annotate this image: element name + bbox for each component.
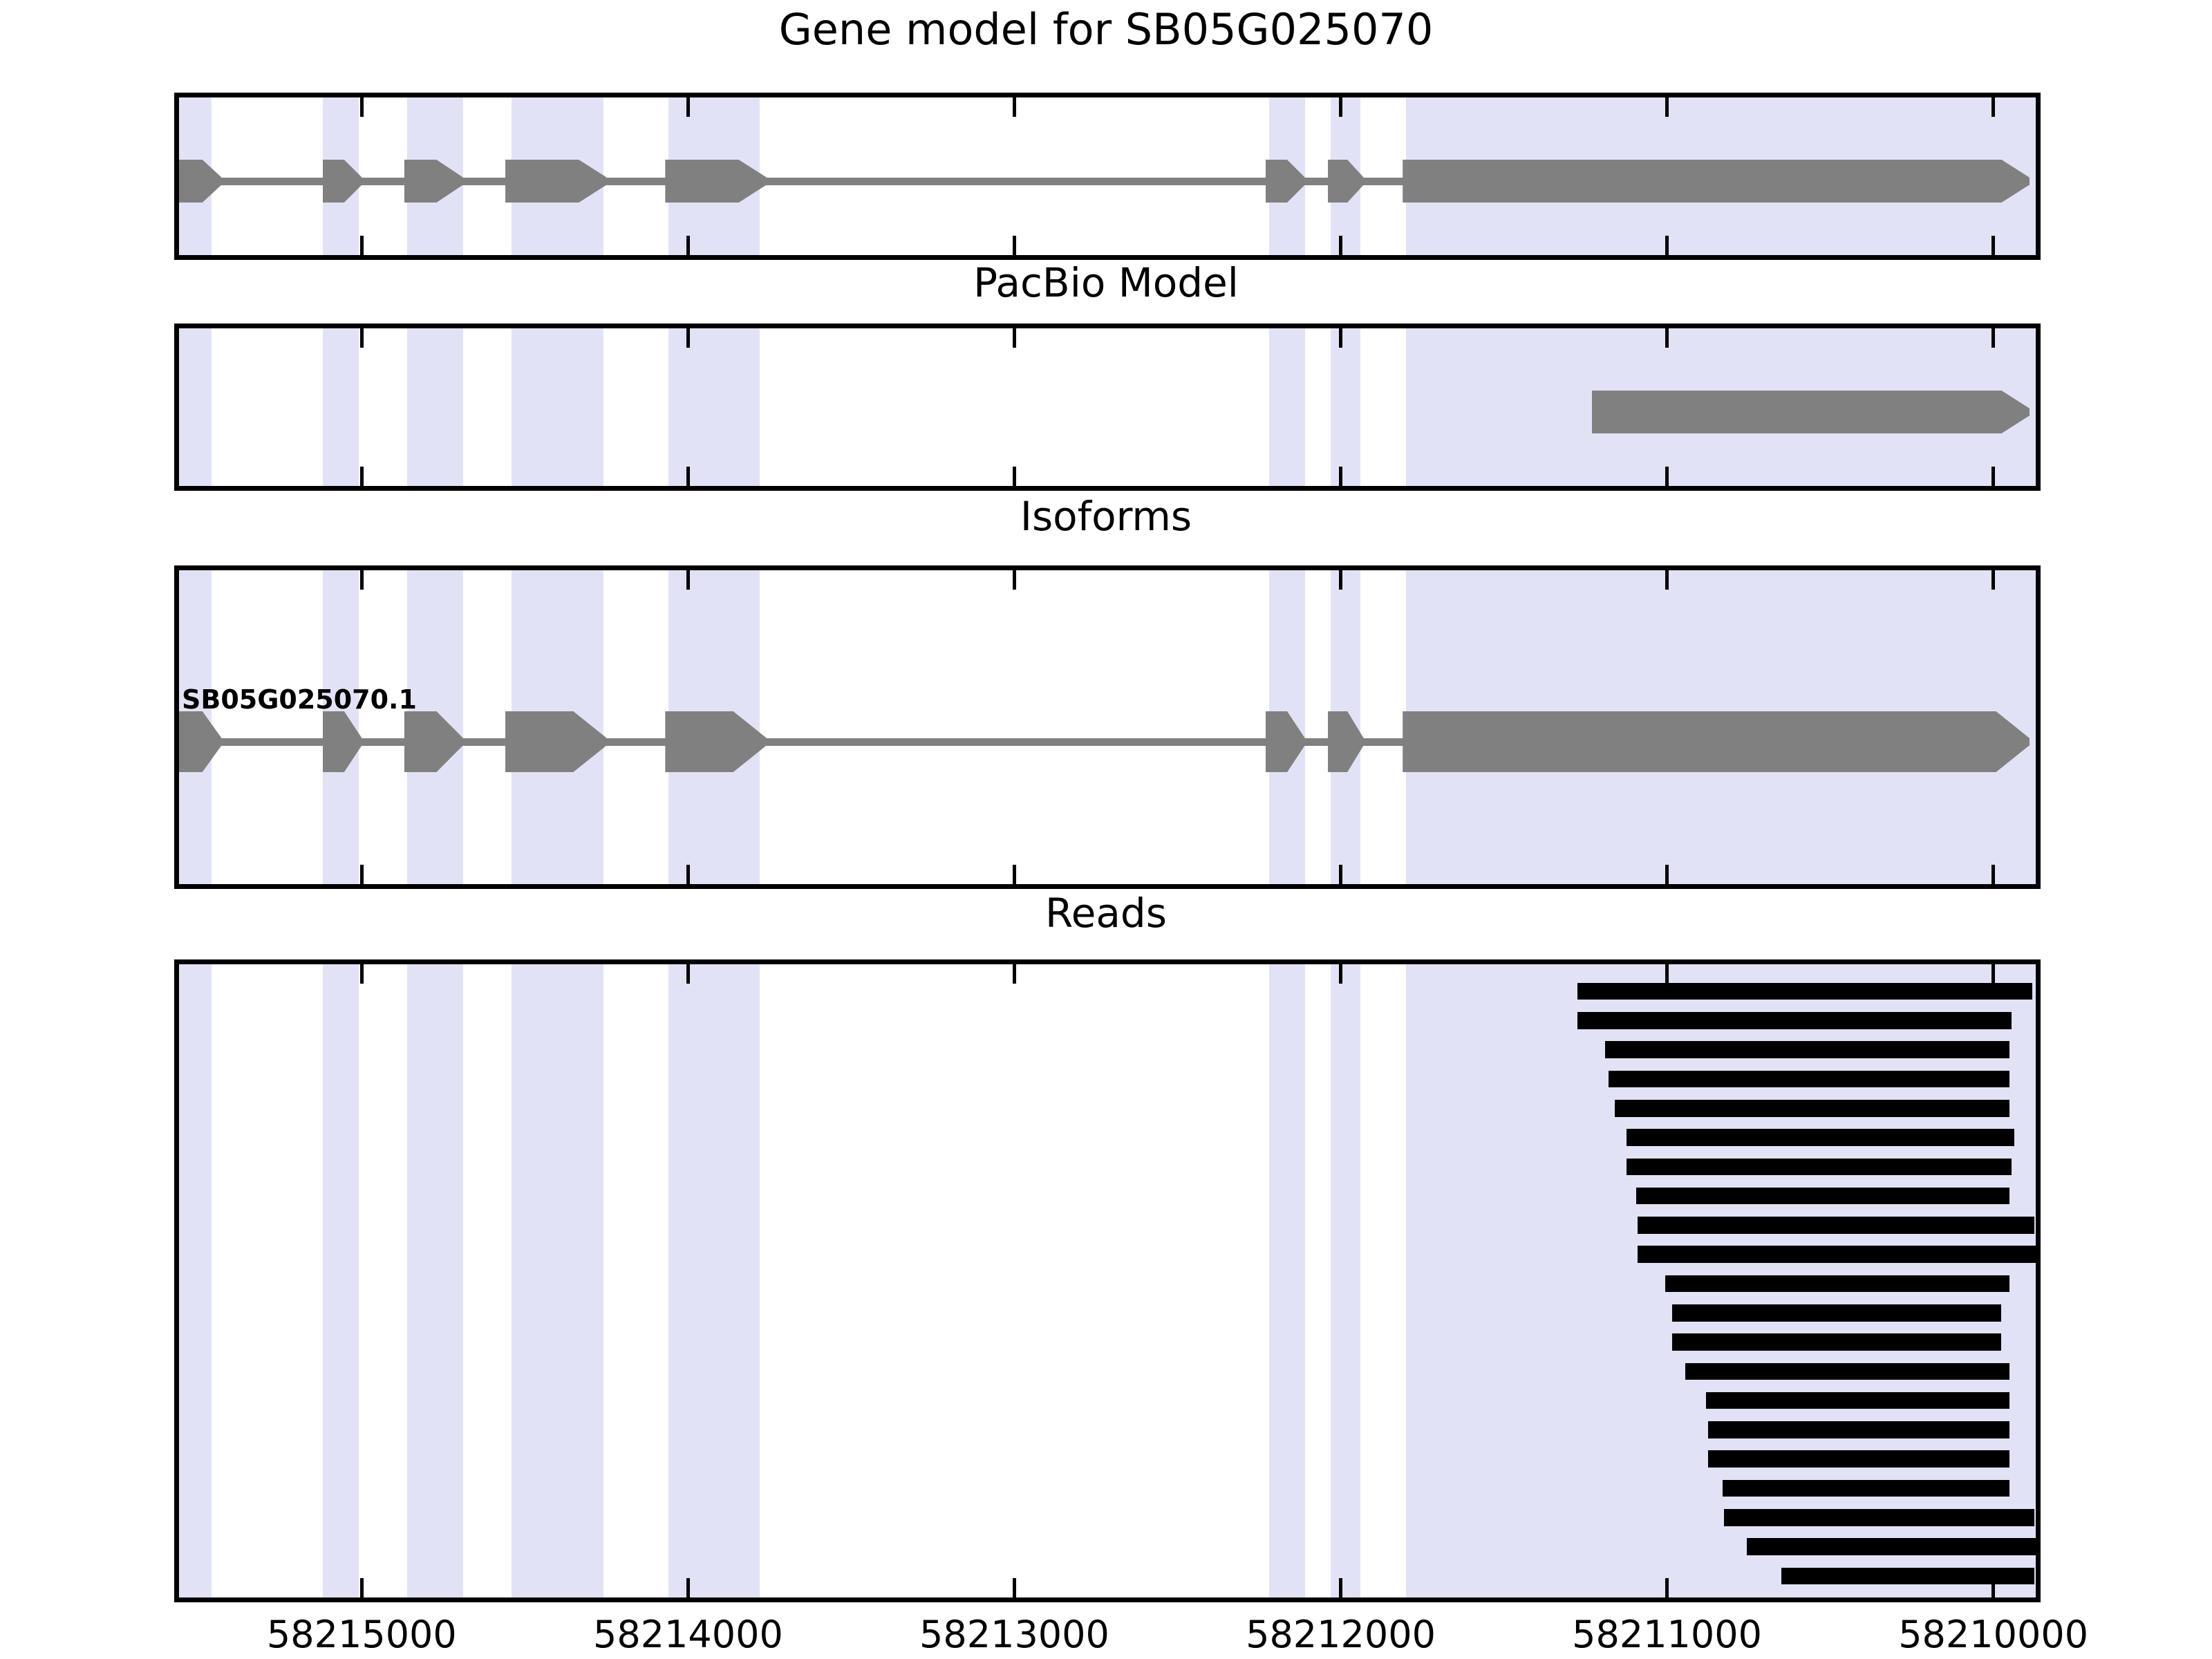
exon-shape [665,711,766,772]
x-axis-tick [360,865,364,884]
x-axis-tick [1013,236,1016,255]
x-axis-tick [686,97,690,117]
x-axis-tick [360,328,364,348]
exon-highlight-band [512,964,603,1597]
x-axis-tick [1339,236,1342,255]
read-bar[interactable] [1627,1129,2015,1146]
exon-shape [1266,711,1305,772]
panel-title-isoforms: Isoforms [0,496,2212,536]
read-bar[interactable] [1685,1363,2010,1380]
exon-highlight-band [668,328,760,486]
read-bar[interactable] [1724,1509,2034,1526]
exon-shape [505,711,606,772]
x-axis-tick [1339,328,1342,348]
exon-shape [323,711,362,772]
read-bar[interactable] [1672,1333,2002,1351]
read-bar[interactable] [1577,1012,2012,1029]
isoform-exon[interactable] [505,711,606,772]
x-axis-tick [1339,1578,1342,1597]
isoform-label: SB05G025070.1 [182,686,417,713]
read-bar[interactable] [1781,1568,2034,1585]
gene-model-exon[interactable] [1266,160,1305,203]
gene-model-exon[interactable] [665,160,766,203]
exon-shape [1328,711,1364,772]
x-axis-tick [1991,236,1995,255]
read-bar[interactable] [1577,983,2033,1000]
exon-highlight-band [1331,328,1360,486]
isoform-exon[interactable] [179,711,221,772]
read-bar[interactable] [1723,1480,2009,1497]
gene-model-exon[interactable] [1328,160,1364,203]
x-axis-tick [1339,865,1342,884]
x-axis-tick-label: 58210000 [1898,1616,2088,1653]
x-axis-tick [1665,236,1669,255]
pacbio-model-axes[interactable] [174,324,2041,491]
x-axis-tick [1339,570,1342,590]
read-bar[interactable] [1605,1041,2009,1058]
x-axis-tick [1991,467,1995,486]
exon-shape [505,160,606,203]
gene-model-exon[interactable] [505,160,606,203]
gene-model-axes[interactable] [174,93,2041,260]
x-axis-tick [1013,467,1016,486]
x-axis-tick [360,570,364,590]
x-axis-tick [360,467,364,486]
x-axis-tick [686,236,690,255]
x-axis-tick-label: 58212000 [1246,1616,1436,1653]
x-axis-tick [1991,328,1995,348]
gene-model-exon[interactable] [323,160,362,203]
exon-highlight-band [407,964,462,1597]
x-axis-tick [686,570,690,590]
x-axis-tick [1665,467,1669,486]
x-axis-tick [1991,570,1995,590]
exon-shape [1592,391,2030,433]
gene-model-exon[interactable] [1403,160,2029,203]
x-axis-tick [1991,964,1995,984]
read-bar[interactable] [1615,1100,2009,1117]
x-axis-tick [1665,865,1669,884]
exon-shape [404,711,463,772]
isoform-exon[interactable] [404,711,463,772]
x-axis-tick [360,1578,364,1597]
exon-shape [665,160,766,203]
isoforms-axes[interactable]: SB05G025070.1 [174,565,2041,889]
exon-highlight-band [407,328,462,486]
gene-model-figure: Gene model for SB05G025070 PacBio Model … [0,0,2212,1659]
read-bar[interactable] [1708,1421,2010,1438]
read-bar[interactable] [1638,1217,2034,1234]
x-axis-tick [1013,964,1016,984]
isoform-exon[interactable] [323,711,362,772]
x-axis-tick [360,97,364,117]
isoform-exon[interactable] [1328,711,1364,772]
x-axis-tick-label: 58213000 [919,1616,1109,1653]
x-axis-tick [360,964,364,984]
x-axis-tick [686,964,690,984]
exon-highlight-band [323,964,359,1597]
x-axis-tick-label: 58211000 [1572,1616,1762,1653]
read-bar[interactable] [1665,1275,2009,1293]
isoform-exon[interactable] [1266,711,1305,772]
exon-shape [179,160,221,203]
x-axis-tick [1339,467,1342,486]
read-bar[interactable] [1708,1450,2010,1468]
x-axis-tick [686,467,690,486]
isoform-exon[interactable] [1403,711,2029,772]
x-axis-tick [1013,570,1016,590]
exon-highlight-band [323,328,359,486]
exon-shape [404,160,463,203]
x-axis-tick [1013,1578,1016,1597]
exon-shape [179,711,221,772]
read-bar[interactable] [1609,1071,2010,1088]
read-bar[interactable] [1672,1304,2002,1322]
x-axis-tick [360,236,364,255]
read-bar[interactable] [1747,1538,2036,1555]
x-axis-tick [1339,97,1342,117]
exon-highlight-band [1269,328,1305,486]
panel-title-reads: Reads [0,893,2212,933]
x-axis-tick [686,865,690,884]
x-axis-tick [1013,97,1016,117]
x-axis-tick [1339,964,1342,984]
reads-axes[interactable] [174,959,2041,1602]
exon-shape [1328,160,1364,203]
panel-title-pacbio-model: PacBio Model [0,263,2212,303]
exon-highlight-band [668,964,760,1597]
read-bar[interactable] [1638,1246,2036,1263]
x-axis-tick [1991,97,1995,117]
x-axis-tick [1991,865,1995,884]
x-axis-tick-label: 58215000 [267,1616,457,1653]
exon-shape [1403,711,2029,772]
exon-shape [1266,160,1305,203]
read-bar[interactable] [1706,1392,2009,1409]
isoform-exon[interactable] [665,711,766,772]
exon-highlight-band [1269,964,1305,1597]
gene-model-exon[interactable] [179,160,221,203]
figure-title: Gene model for SB05G025070 [0,8,2212,51]
read-bar[interactable] [1636,1188,2010,1205]
x-axis-tick [1665,328,1669,348]
x-axis-tick [1665,1578,1669,1597]
pacbio-model-exon[interactable] [1592,391,2030,433]
exon-shape [323,160,362,203]
x-axis-tick [1013,865,1016,884]
x-axis-tick [1665,570,1669,590]
x-axis-tick [686,328,690,348]
x-axis-tick [1665,97,1669,117]
x-axis-tick [1665,964,1669,984]
x-axis-tick-label: 58214000 [593,1616,783,1653]
exon-highlight-band [179,964,212,1597]
exon-shape [1403,160,2029,203]
x-axis-tick [686,1578,690,1597]
x-axis-tick [1013,328,1016,348]
exon-highlight-band [1331,964,1360,1597]
exon-highlight-band [512,328,603,486]
gene-model-exon[interactable] [404,160,463,203]
read-bar[interactable] [1627,1159,2012,1176]
exon-highlight-band [179,328,212,486]
